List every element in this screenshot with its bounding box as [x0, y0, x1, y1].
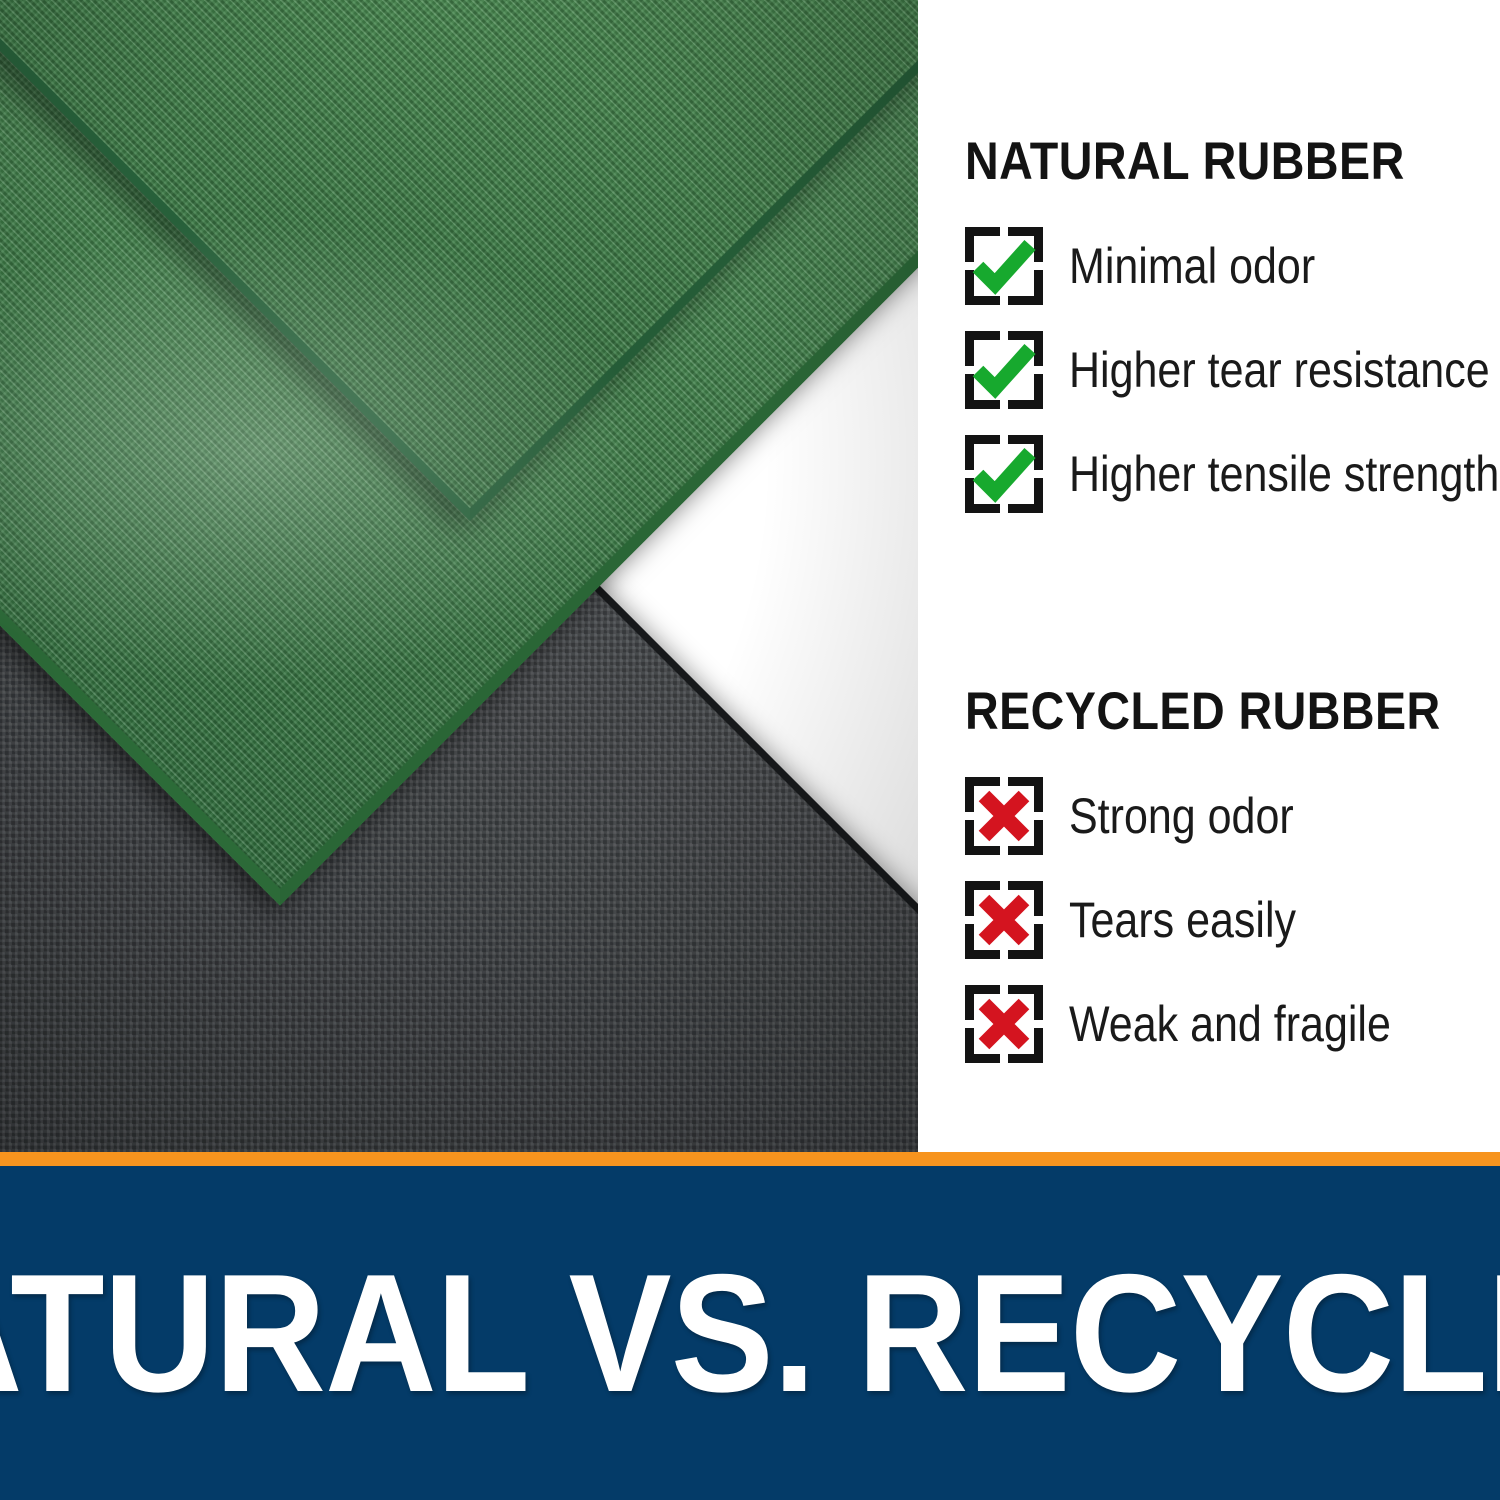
section-title-recycled: RECYCLED RUBBER: [965, 685, 1436, 738]
infographic-page: NATURAL RUBBER Minimal odor: [0, 0, 1500, 1500]
banner-title: NATURAL VS. RECYCLED: [0, 1249, 1500, 1417]
feature-label: Minimal odor: [1069, 241, 1315, 291]
feature-label: Higher tear resistance: [1069, 345, 1490, 395]
checkmark-glyph: [965, 331, 1043, 409]
feature-item: Tears easily: [918, 868, 1500, 972]
feature-item: Higher tensile strength: [918, 422, 1500, 526]
feature-label: Strong odor: [1069, 791, 1294, 841]
bottom-banner: NATURAL VS. RECYCLED: [0, 1166, 1500, 1500]
feature-label: Weak and fragile: [1069, 999, 1391, 1049]
orange-divider-rule: [0, 1152, 1500, 1166]
checkmark-glyph: [965, 227, 1043, 305]
cross-glyph: [965, 985, 1043, 1063]
check-icon: [965, 227, 1043, 305]
cross-icon: [965, 985, 1043, 1063]
feature-label: Higher tensile strength: [1069, 449, 1499, 499]
section-natural-rubber: NATURAL RUBBER Minimal odor: [918, 135, 1500, 526]
feature-panel: NATURAL RUBBER Minimal odor: [918, 0, 1500, 1152]
product-photo: [0, 0, 918, 1152]
feature-item: Weak and fragile: [918, 972, 1500, 1076]
feature-item: Strong odor: [918, 764, 1500, 868]
section-title-natural: NATURAL RUBBER: [965, 135, 1436, 188]
feature-item: Higher tear resistance: [918, 318, 1500, 422]
section-recycled-rubber: RECYCLED RUBBER Strong odor: [918, 685, 1500, 1076]
checkmark-glyph: [965, 435, 1043, 513]
cross-glyph: [965, 777, 1043, 855]
feature-list-natural: Minimal odor Higher tear resistance: [918, 214, 1500, 526]
check-icon: [965, 331, 1043, 409]
feature-label: Tears easily: [1069, 895, 1296, 945]
check-icon: [965, 435, 1043, 513]
feature-list-recycled: Strong odor Tears easily: [918, 764, 1500, 1076]
feature-item: Minimal odor: [918, 214, 1500, 318]
cross-glyph: [965, 881, 1043, 959]
cross-icon: [965, 881, 1043, 959]
cross-icon: [965, 777, 1043, 855]
